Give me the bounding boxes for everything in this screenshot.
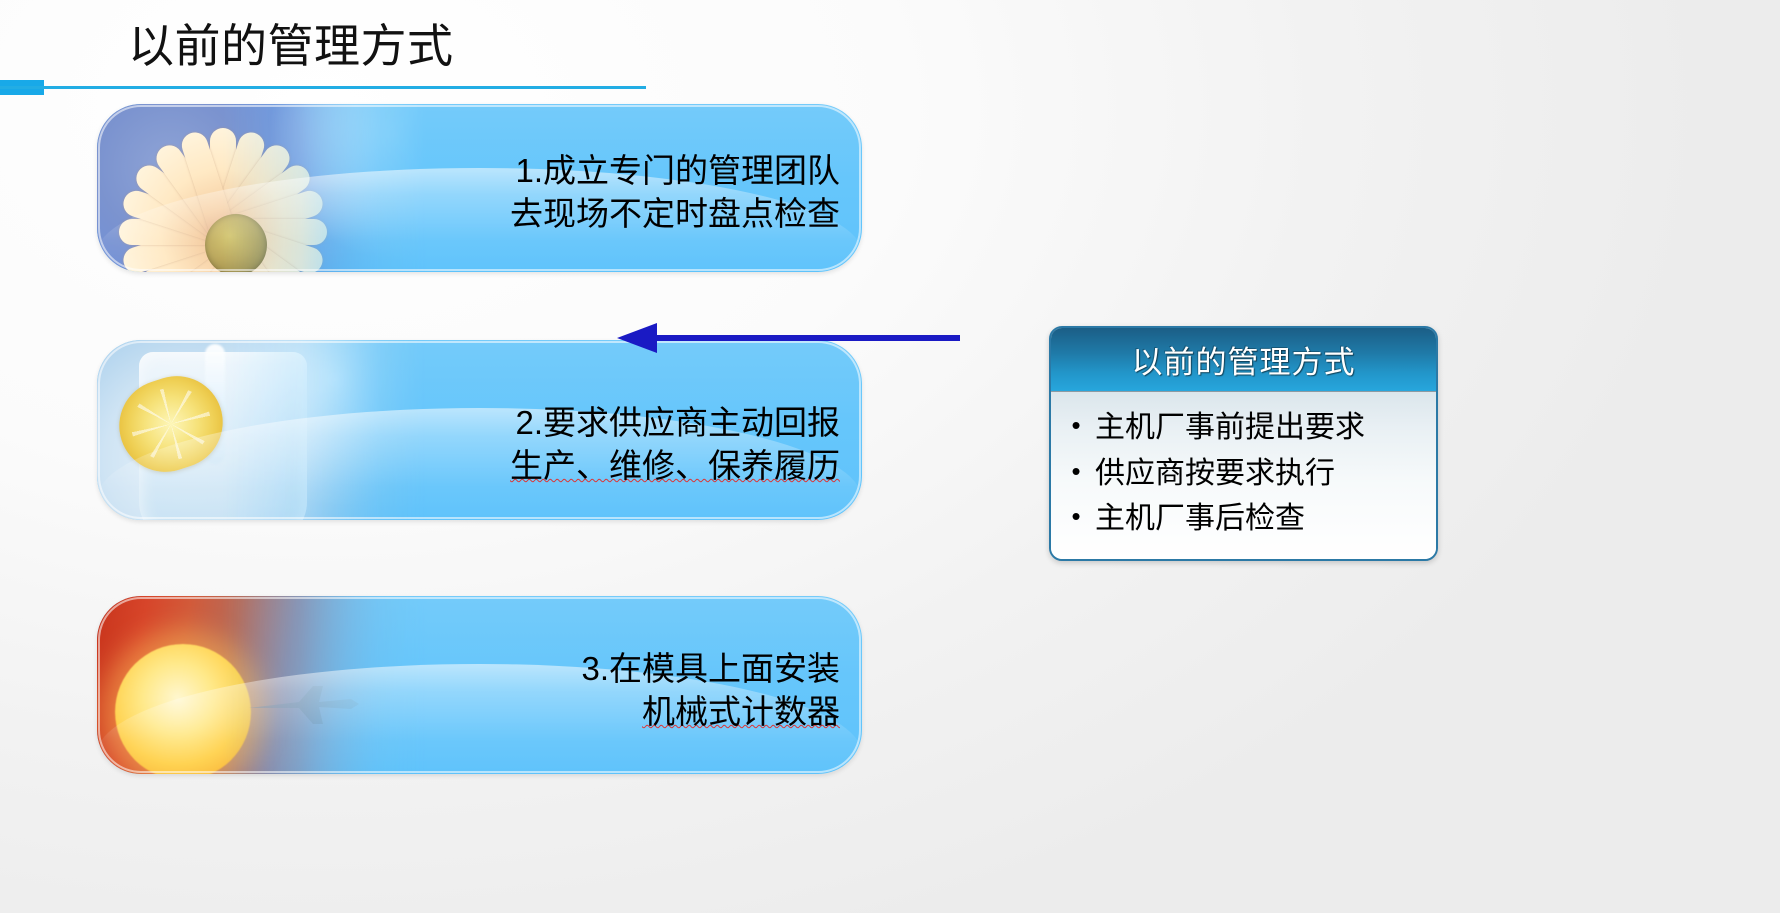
banner-2-text: 2.要求供应商主动回报生产、维修、保养履历 [510, 402, 840, 488]
bullet-icon: • [1061, 499, 1091, 535]
banner-1-line-2: 去现场不定时盘点检查 [510, 195, 840, 232]
info-item-label: 供应商按要求执行 [1091, 454, 1426, 494]
info-item-label: 主机厂事前提出要求 [1091, 408, 1426, 448]
connector-arrow [615, 318, 960, 358]
info-panel-title: 以前的管理方式 [1132, 337, 1356, 382]
banner-3-line-1: 3.在模具上面安装 [581, 650, 840, 687]
banner-1-text: 1.成立专门的管理团队去现场不定时盘点检查 [510, 150, 840, 236]
content-banner-3[interactable]: 3.在模具上面安装机械式计数器 [97, 596, 862, 774]
lemon-drink-backdrop [97, 340, 427, 520]
list-item: • 主机厂事后检查 [1061, 497, 1426, 543]
airplane-icon [247, 682, 367, 728]
sunset-airplane-photo [97, 596, 427, 774]
flower-petals-icon [109, 118, 337, 272]
list-item: • 主机厂事前提出要求 [1061, 406, 1426, 452]
banner-1-line-1: 1.成立专门的管理团队 [515, 152, 840, 189]
banner-3-text: 3.在模具上面安装机械式计数器 [581, 648, 840, 734]
title-underline [0, 86, 646, 89]
banner-3-line-2: 机械式计数器 [642, 693, 840, 730]
page-title: 以前的管理方式 [128, 22, 454, 72]
flower-center-icon [205, 214, 267, 272]
content-banner-2[interactable]: 2.要求供应商主动回报生产、维修、保养履历 [97, 340, 862, 520]
banner-2-line-1: 2.要求供应商主动回报 [515, 404, 840, 441]
lemon-drink-photo [97, 340, 427, 520]
sunset-backdrop [97, 596, 427, 774]
flower-photo-backdrop [97, 104, 427, 272]
slide-canvas: 以前的管理方式 [0, 0, 1780, 913]
bullet-icon: • [1061, 454, 1091, 490]
flower-photo [97, 104, 427, 272]
banner-2-line-2: 生产、维修、保养履历 [510, 447, 840, 484]
content-banner-1[interactable]: 1.成立专门的管理团队去现场不定时盘点检查 [97, 104, 862, 272]
list-item: • 供应商按要求执行 [1061, 452, 1426, 498]
info-panel-header: 以前的管理方式 [1051, 328, 1436, 392]
info-panel-body: • 主机厂事前提出要求 • 供应商按要求执行 • 主机厂事后检查 [1051, 392, 1436, 559]
info-item-label: 主机厂事后检查 [1091, 499, 1426, 539]
bullet-icon: • [1061, 408, 1091, 444]
arrow-left-icon [615, 318, 960, 358]
info-panel[interactable]: 以前的管理方式 • 主机厂事前提出要求 • 供应商按要求执行 • 主机厂事后检查 [1049, 326, 1438, 561]
sun-icon [115, 644, 251, 774]
